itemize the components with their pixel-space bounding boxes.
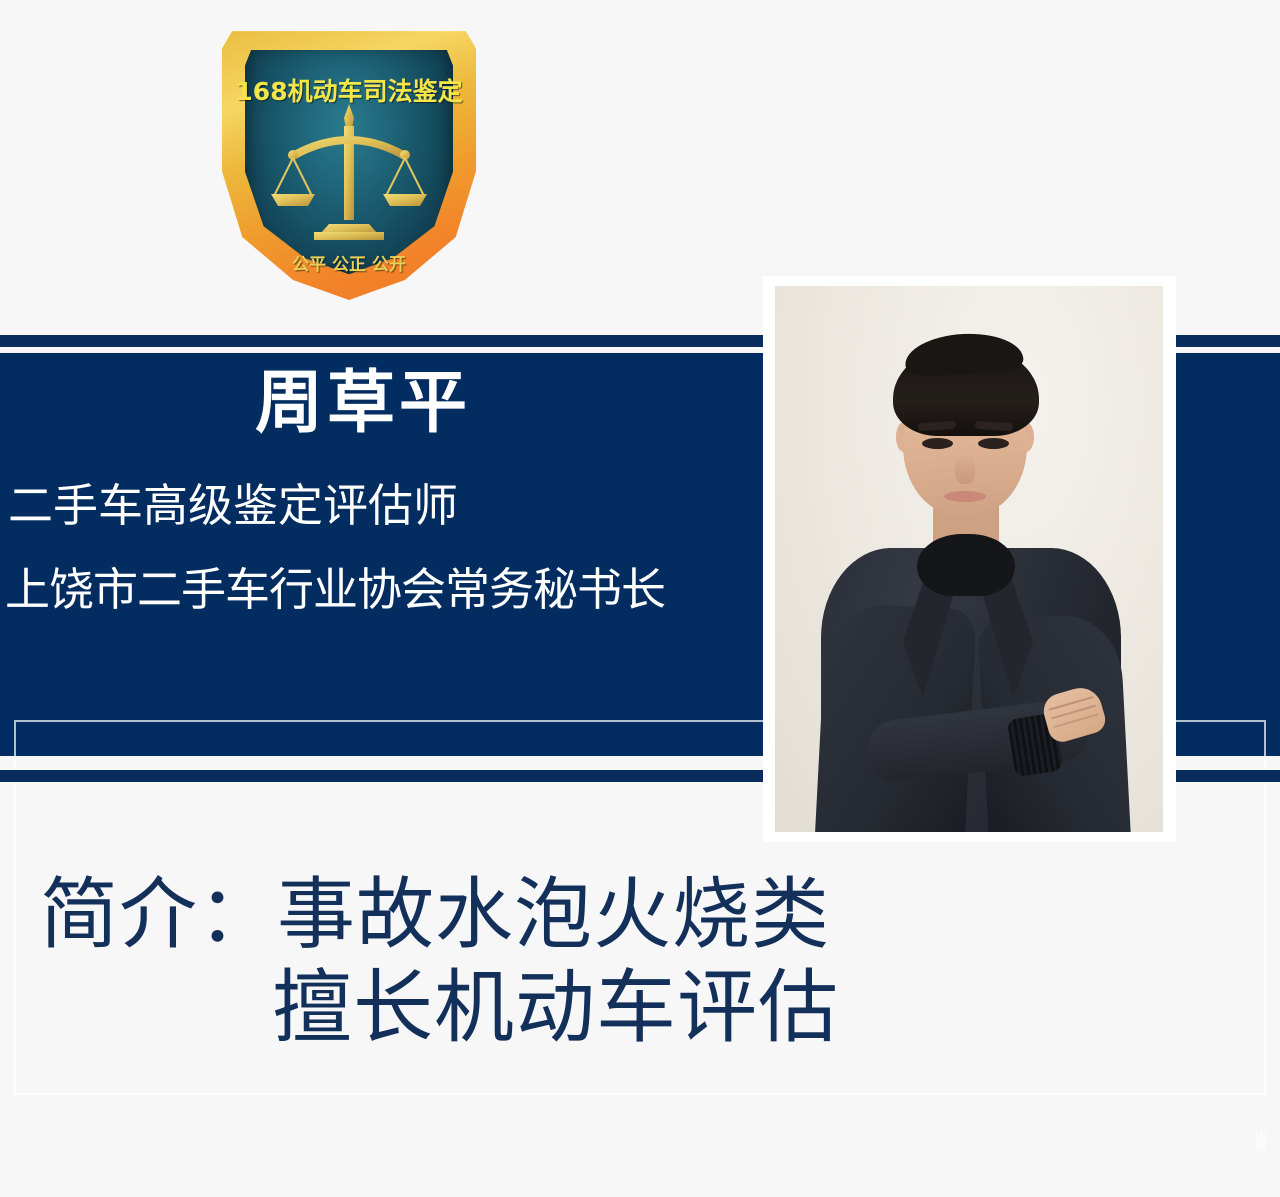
portrait-nose bbox=[955, 454, 975, 484]
portrait-photo bbox=[775, 286, 1163, 832]
portrait-mouth bbox=[944, 491, 986, 502]
intro-headline-line-2: 擅长机动车评估 bbox=[272, 968, 839, 1048]
person-role-secondary: 上饶市二手车行业协会常务秘书长 bbox=[5, 567, 665, 612]
intro-headline-line-1: 简介：事故水泡火烧类 bbox=[40, 876, 830, 954]
poster-canvas: 168机动车司法鉴定 bbox=[0, 0, 1280, 1197]
person-name: 周草平 bbox=[0, 370, 726, 438]
portrait-eye-right bbox=[978, 438, 1009, 449]
logo-motto: 公平 公正 公开 bbox=[222, 250, 476, 275]
watermark-icon bbox=[1248, 1123, 1274, 1157]
person-role-primary: 二手车高级鉴定评估师 bbox=[8, 483, 458, 528]
company-logo: 168机动车司法鉴定 bbox=[222, 14, 476, 300]
balance-scales-icon bbox=[266, 102, 432, 252]
portrait-hair bbox=[893, 344, 1039, 436]
portrait-eye-left bbox=[922, 438, 953, 449]
portrait-turtleneck-collar bbox=[917, 534, 1015, 596]
